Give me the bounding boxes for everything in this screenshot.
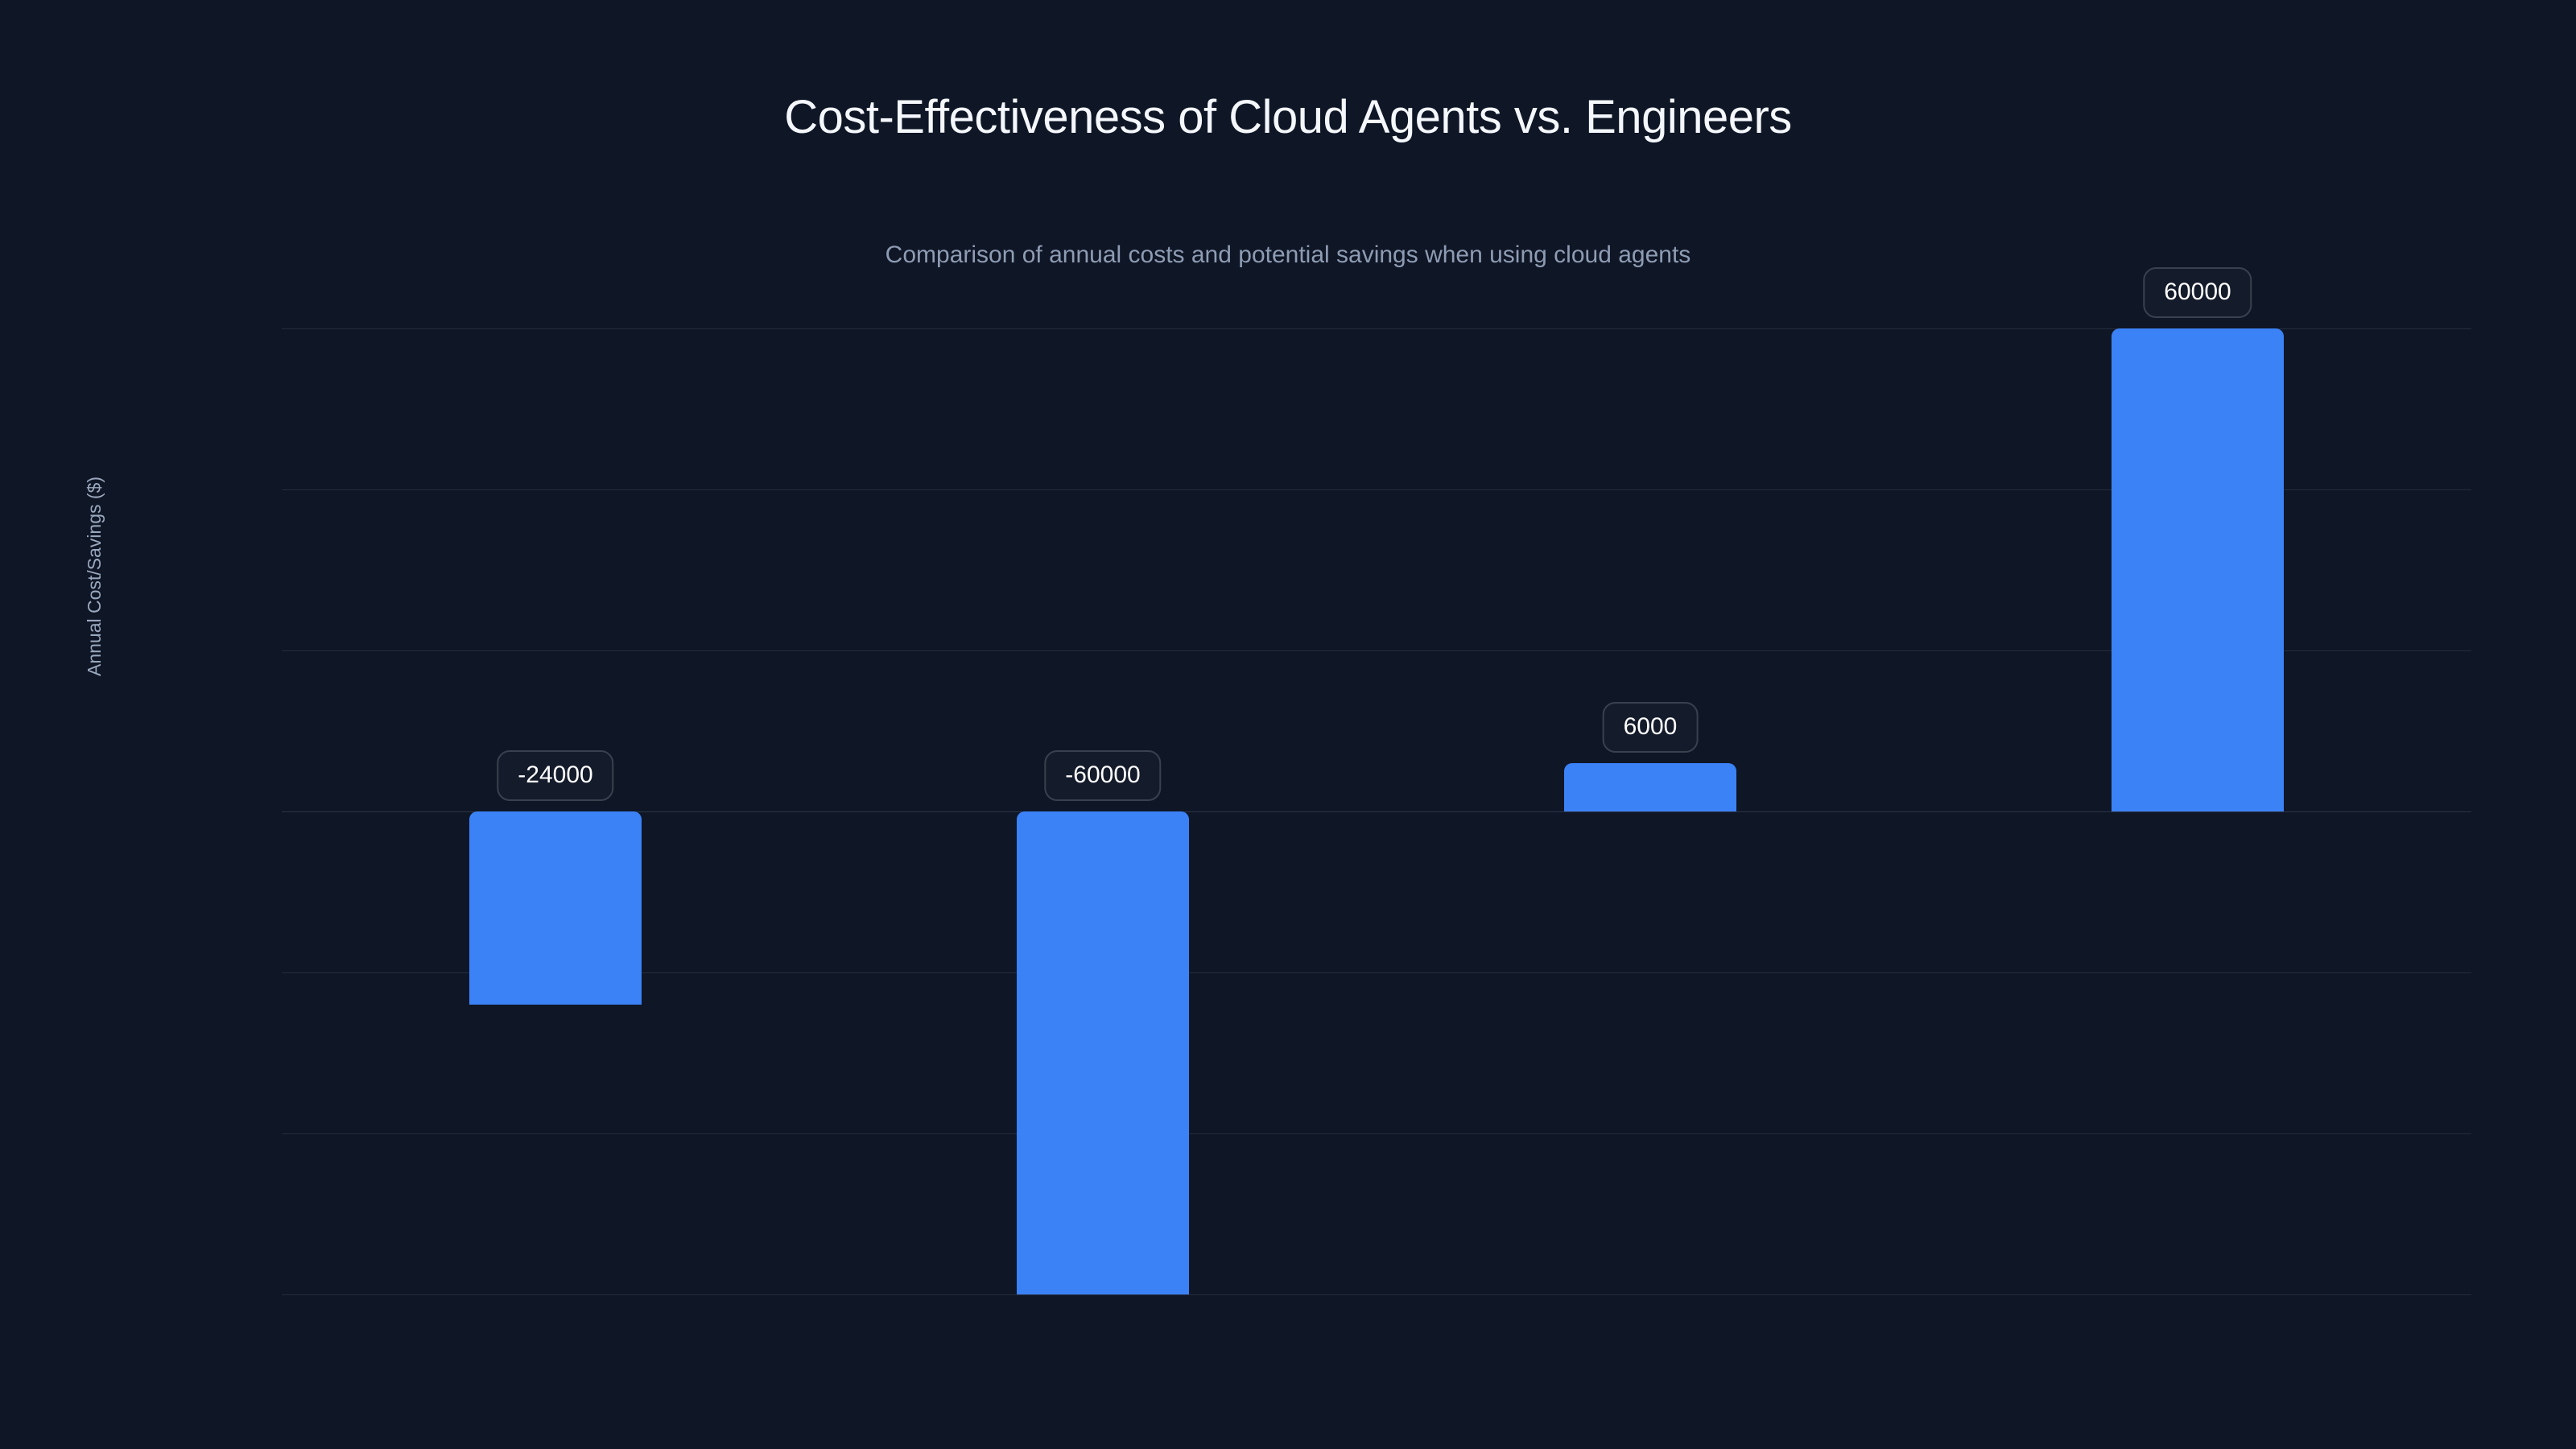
chart-title: Cost-Effectiveness of Cloud Agents vs. E… bbox=[0, 90, 2576, 144]
bar[interactable] bbox=[1017, 811, 1189, 1294]
value-label-chip: 6000 bbox=[1603, 702, 1699, 753]
value-label-chip: 60000 bbox=[2143, 267, 2252, 318]
chart-canvas: Cost-Effectiveness of Cloud Agents vs. E… bbox=[0, 0, 2576, 1449]
value-label-chip: -24000 bbox=[497, 750, 613, 801]
gridline bbox=[282, 1294, 2471, 1295]
bar[interactable] bbox=[1564, 763, 1736, 811]
value-label-chip: -60000 bbox=[1044, 750, 1161, 801]
plot-area: 60,00040,00020,0000-20,000-40,000-60,000… bbox=[282, 328, 2471, 1294]
bar[interactable] bbox=[469, 811, 642, 1005]
chart-subtitle: Comparison of annual costs and potential… bbox=[0, 242, 2576, 269]
bar[interactable] bbox=[2112, 328, 2284, 811]
gridline bbox=[282, 1133, 2471, 1134]
y-axis-title: Annual Cost/Savings ($) bbox=[84, 338, 105, 676]
